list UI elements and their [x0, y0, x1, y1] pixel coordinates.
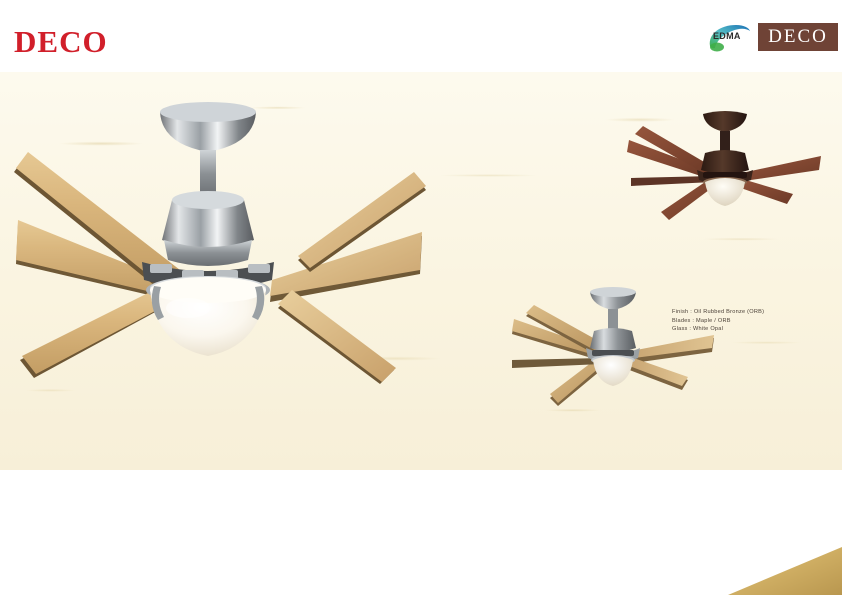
page-title: DECO [14, 24, 108, 60]
gold-corner-decoration [722, 547, 842, 595]
product-image-fan-bn [508, 282, 718, 412]
product-image-fan-main [10, 94, 430, 394]
brand-block: EDMA DECO [706, 22, 838, 52]
bottom-strip: 52in ★ Performa motor yang tenang dan se… [0, 470, 842, 595]
catalog-page: DECO EDMA DECO [0, 0, 842, 595]
svg-text:EDMA: EDMA [713, 31, 741, 41]
product-image-fan-orb [625, 104, 825, 229]
product-showcase-panel: Finish : Oil Rubbed Bronze (ORB) Blades … [0, 72, 842, 470]
edma-logo-icon: EDMA [706, 22, 752, 52]
page-header: DECO EDMA DECO [0, 0, 842, 72]
deco-badge: DECO [758, 23, 838, 51]
